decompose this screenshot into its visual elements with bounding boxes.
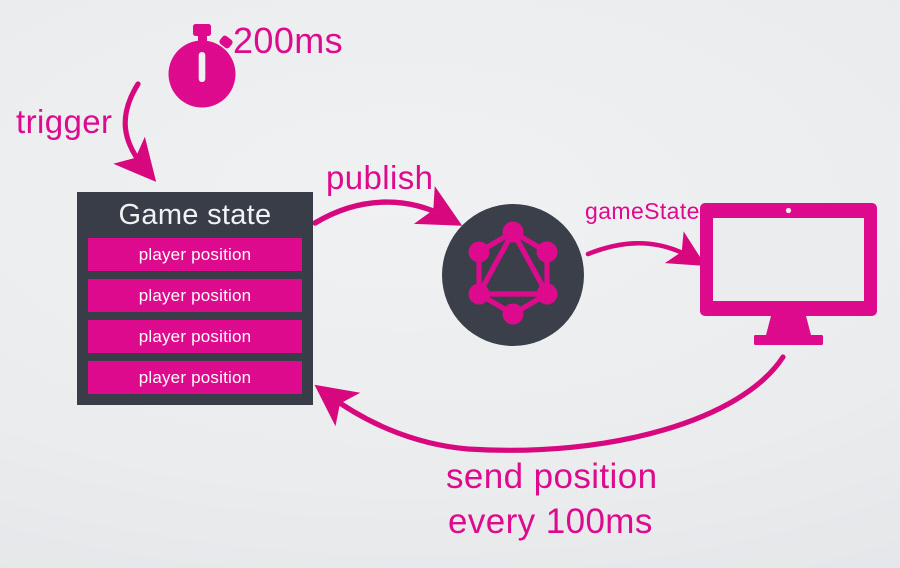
client-monitor [700,203,877,348]
gamestate-arrow [588,243,694,259]
publish-label: publish [326,160,433,196]
timer-interval-label: 200ms [233,22,343,61]
send-position-arrow [327,357,783,450]
player-position-row: player position [88,361,302,394]
graphql-server-node [442,204,584,346]
gamestate-label: gameState [585,199,700,224]
stopwatch-icon [162,24,244,108]
monitor-icon [700,203,877,348]
graphql-logo-icon [442,204,584,346]
trigger-label: trigger [16,104,112,140]
publish-arrow [315,202,448,223]
trigger-arrow [125,84,146,170]
player-position-row: player position [88,238,302,271]
player-position-row: player position [88,320,302,353]
game-state-title: Game state [88,198,302,233]
send-interval-label: every 100ms [448,503,653,541]
player-position-row: player position [88,279,302,312]
send-position-label: send position [446,458,657,496]
game-state-panel: Game state player position player positi… [77,192,313,405]
diagram-canvas: 200ms trigger publish gameState send pos… [0,0,900,568]
